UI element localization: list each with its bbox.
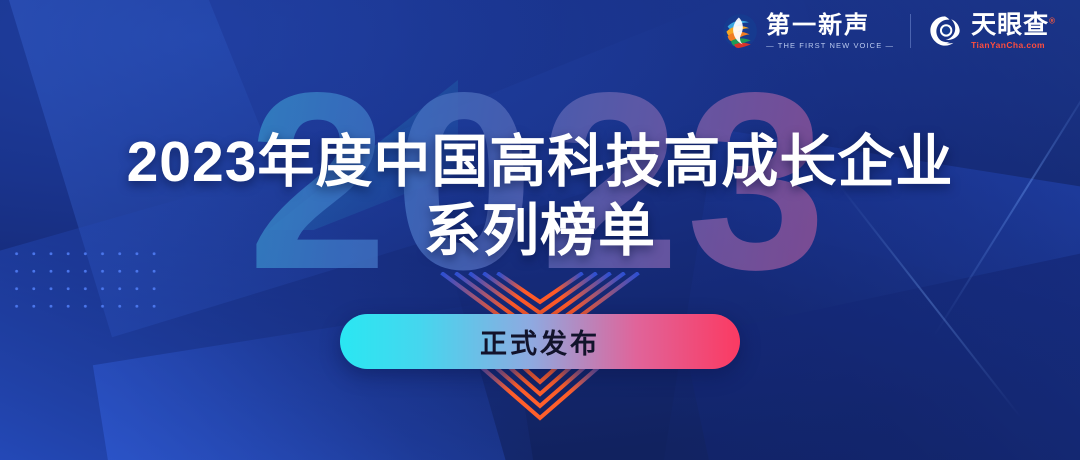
release-cta-button[interactable]: 正式发布: [340, 314, 740, 369]
logo-tianyancha-name-cn: 天眼查: [971, 11, 1049, 39]
logo-bar: 第一新声 — THE FIRST NEW VOICE — 天眼查® TianYa…: [722, 13, 1056, 50]
logo-tianyancha[interactable]: 天眼查® TianYanCha.com: [927, 13, 1056, 50]
logo-diyixinsheng-text: 第一新声 — THE FIRST NEW VOICE —: [766, 14, 894, 50]
headline-line-1: 2023年度中国高科技高成长企业: [0, 132, 1080, 194]
swirl-globe-icon: [722, 13, 758, 49]
logo-diyixinsheng[interactable]: 第一新声 — THE FIRST NEW VOICE —: [722, 13, 894, 49]
logo-diyixinsheng-name: 第一新声: [766, 14, 894, 38]
logo-tianyancha-text: 天眼查® TianYanCha.com: [971, 13, 1056, 50]
headline-line-2: 系列榜单: [0, 201, 1080, 263]
eye-lens-icon: [927, 13, 963, 49]
logo-diyixinsheng-tagline: — THE FIRST NEW VOICE —: [766, 42, 894, 50]
logo-tianyancha-name: 天眼查®: [971, 13, 1056, 38]
registered-trademark-icon: ®: [1049, 17, 1056, 26]
logo-tianyancha-domain: TianYanCha.com: [971, 41, 1056, 50]
logo-divider: [910, 14, 911, 48]
poster-headline: 2023年度中国高科技高成长企业 系列榜单: [0, 132, 1080, 262]
promo-poster: 2023: [0, 0, 1080, 460]
